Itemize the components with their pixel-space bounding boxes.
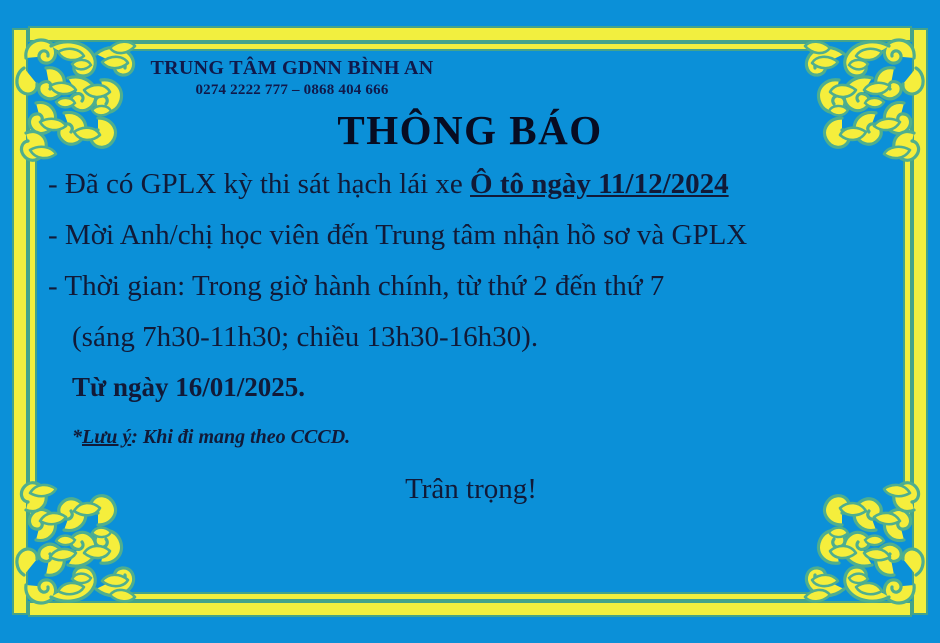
note-text: : Khi đi mang theo CCCD.	[131, 426, 350, 448]
organization-block: TRUNG TÂM GDNN BÌNH AN 0274 2222 777 – 0…	[82, 58, 502, 99]
border-bar-right-inner	[905, 120, 910, 523]
start-date-line: Từ ngày 16/01/2025.	[48, 374, 894, 401]
page-title: THÔNG BÁO	[40, 106, 900, 154]
note-asterisk: *	[72, 426, 82, 448]
announcement-body: - Đã có GPLX kỳ thi sát hạch lái xe Ô tô…	[48, 170, 894, 504]
closing-line: Trân trọng!	[48, 475, 894, 504]
line-1-text: - Đã có GPLX kỳ thi sát hạch lái xe	[48, 168, 470, 200]
announcement-poster: TRUNG TÂM GDNN BÌNH AN 0274 2222 777 – 0…	[0, 0, 940, 643]
schedule-line: (sáng 7h30-11h30; chiều 13h30-16h30).	[48, 323, 894, 352]
note-line: *Lưu ý: Khi đi mang theo CCCD.	[48, 427, 894, 447]
line-2-text: - Mời Anh/chị học viên đến Trung tâm nhậ…	[48, 219, 747, 251]
organization-name: TRUNG TÂM GDNN BÌNH AN	[82, 58, 502, 79]
note-label: Lưu ý	[82, 426, 131, 448]
poster-content: TRUNG TÂM GDNN BÌNH AN 0274 2222 777 – 0…	[40, 34, 900, 609]
announcement-line-3: - Thời gian: Trong giờ hành chính, từ th…	[48, 272, 894, 301]
organization-phone: 0274 2222 777 – 0868 404 666	[82, 82, 502, 99]
line-3-text: - Thời gian: Trong giờ hành chính, từ th…	[48, 270, 664, 302]
line-1-emphasis: Ô tô ngày 11/12/2024	[470, 168, 729, 200]
announcement-line-2: - Mời Anh/chị học viên đến Trung tâm nhậ…	[48, 221, 894, 250]
border-bar-left-inner	[30, 120, 35, 523]
announcement-line-1: - Đã có GPLX kỳ thi sát hạch lái xe Ô tô…	[48, 170, 894, 199]
